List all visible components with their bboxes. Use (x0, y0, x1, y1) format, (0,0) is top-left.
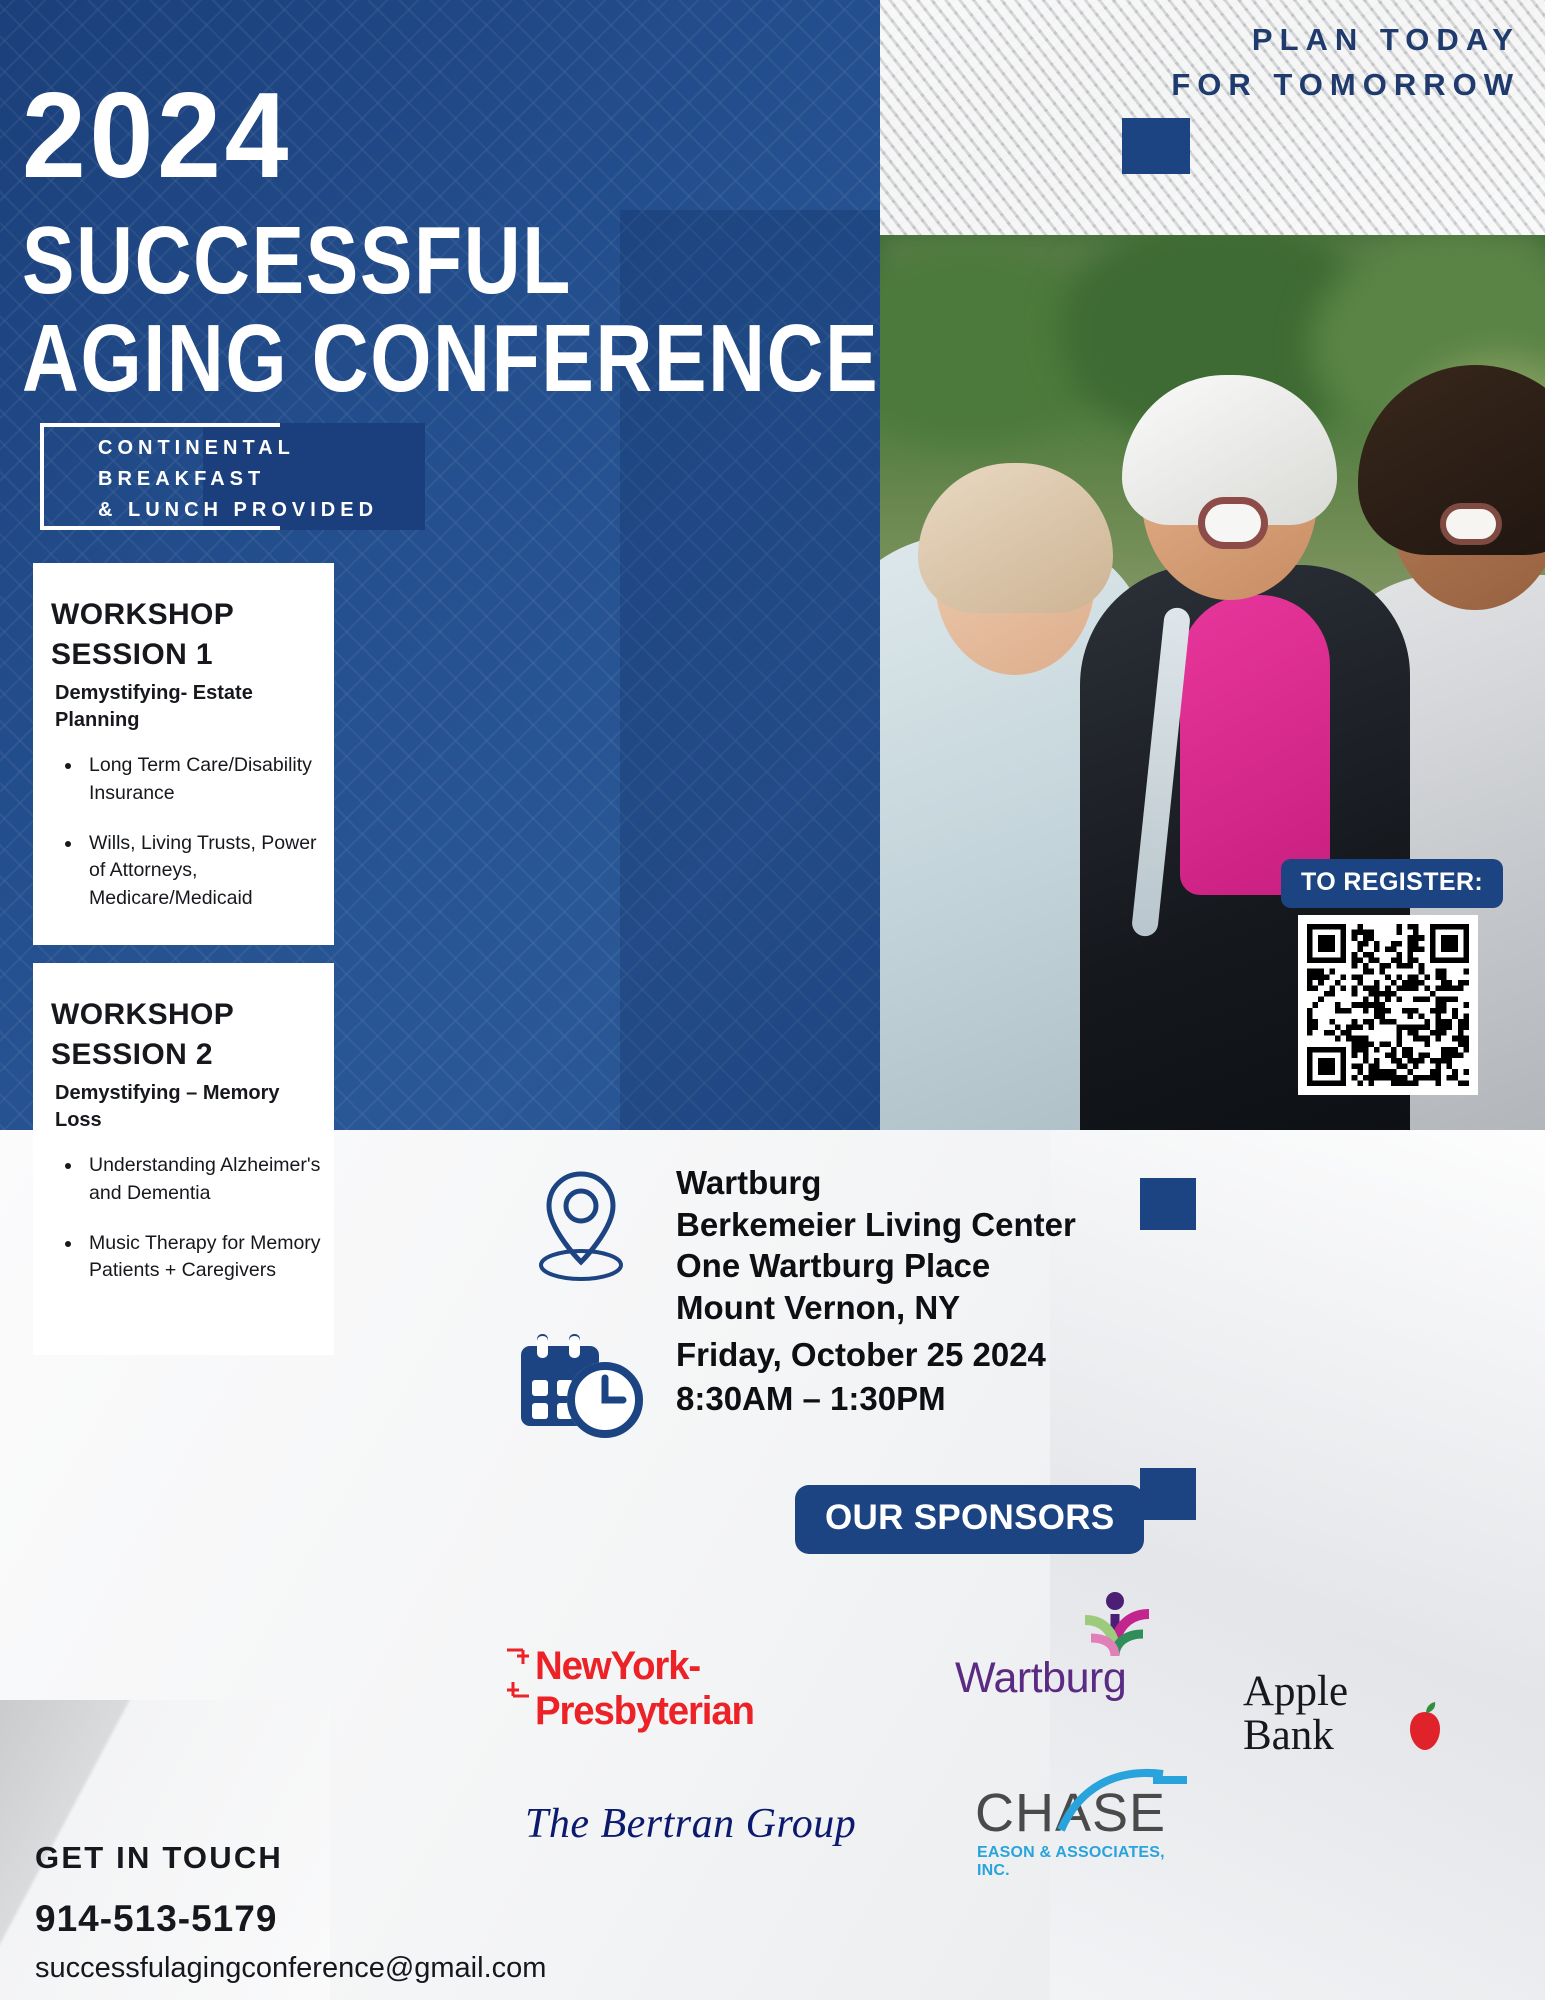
contact-heading: GET IN TOUCH (35, 1840, 283, 1876)
wartburg-figure-icon (1075, 1590, 1155, 1660)
sponsor-logo-wartburg: Wartburg (960, 1600, 1190, 1720)
sponsor-logo-bertran-group: The Bertran Group (525, 1800, 935, 1880)
tagline-line-1: PLAN TODAY (880, 18, 1520, 63)
venue-address: Wartburg Berkemeier Living Center One Wa… (676, 1162, 1076, 1328)
sponsor-subtitle-eason: EASON & ASSOCIATES, INC. (977, 1844, 1185, 1880)
accent-square-lower (1140, 1468, 1196, 1520)
sponsor-logo-apple-bank: Apple Bank (1243, 1672, 1463, 1782)
sponsor-name-bertran-group: The Bertran Group (525, 1800, 935, 1848)
meal-note-text: CONTINENTAL BREAKFAST & LUNCH PROVIDED (98, 433, 378, 526)
apple-bank-line-2: Bank (1243, 1714, 1348, 1758)
list-item: Wills, Living Trusts, Power of Attorneys… (83, 830, 324, 913)
event-date: Friday, October 25 2024 (676, 1333, 1046, 1377)
workshop-card-2: WORKSHOP SESSION 2 Demystifying – Memory… (33, 963, 334, 1355)
title-line-1: SUCCESSFUL (22, 215, 572, 306)
nyp-bracket-icon (505, 1646, 531, 1700)
location-pin-icon (533, 1168, 629, 1284)
workshop-1-heading: WORKSHOP SESSION 1 (33, 563, 334, 674)
contact-email[interactable]: successfulagingconference@gmail.com (35, 1952, 546, 1985)
workshop-1-bullet-list: Long Term Care/Disability Insurance Will… (33, 752, 334, 912)
workshop-1-subtitle: Demystifying- Estate Planning (33, 674, 334, 734)
sponsor-logo-chase-eason: CHASE EASON & ASSOCIATES, INC. (975, 1782, 1185, 1882)
event-datetime: Friday, October 25 2024 8:30AM – 1:30PM (676, 1333, 1046, 1420)
tagline: PLAN TODAY FOR TOMORROW (880, 18, 1520, 108)
workshop-2-heading: WORKSHOP SESSION 2 (33, 963, 334, 1074)
accent-square-top (1122, 118, 1190, 174)
photo-person-center-pink-top (1180, 595, 1330, 895)
workshop-1-heading-line-1: WORKSHOP (51, 595, 334, 635)
workshop-1-heading-line-2: SESSION 1 (51, 635, 334, 675)
calendar-clock-icon (517, 1330, 647, 1440)
photo-person-left-hair (918, 463, 1113, 613)
venue-name: Wartburg (676, 1162, 1076, 1204)
venue-street: One Wartburg Place (676, 1245, 1076, 1287)
workshop-2-bullet-list: Understanding Alzheimer's and Dementia M… (33, 1152, 334, 1285)
contact-phone[interactable]: 914-513-5179 (35, 1898, 277, 1940)
sponsor-logo-nyp: NewYork-Presbyterian (505, 1628, 905, 1720)
qr-code-image (1307, 924, 1469, 1086)
sponsor-name-nyp: NewYork-Presbyterian (535, 1644, 890, 1734)
chase-swoosh-icon (1053, 1766, 1188, 1832)
meal-note-line-2: BREAKFAST (98, 464, 378, 495)
meal-note-line-1: CONTINENTAL (98, 433, 378, 464)
apple-icon (1399, 1700, 1451, 1752)
list-item: Long Term Care/Disability Insurance (83, 752, 324, 807)
workshop-2-heading-line-1: WORKSHOP (51, 995, 334, 1035)
meal-note-line-3: & LUNCH PROVIDED (98, 495, 378, 526)
list-item: Understanding Alzheimer's and Dementia (83, 1152, 324, 1207)
event-time: 8:30AM – 1:30PM (676, 1377, 1046, 1421)
list-item: Music Therapy for Memory Patients + Care… (83, 1230, 324, 1285)
our-sponsors-badge: OUR SPONSORS (795, 1485, 1144, 1554)
flyer-page: PLAN TODAY FOR TOMORROW 2024 SUCCESSFUL … (0, 0, 1545, 2000)
apple-bank-line-1: Apple (1243, 1670, 1348, 1714)
title-line-2: AGING CONFERENCE (22, 313, 879, 404)
photo-person-right-mouth (1440, 503, 1502, 545)
sponsor-name-apple-bank: Apple Bank (1243, 1670, 1348, 1758)
venue-city-state: Mount Vernon, NY (676, 1287, 1076, 1329)
photo-person-center-mouth (1198, 497, 1268, 549)
qr-code[interactable] (1298, 915, 1478, 1095)
to-register-badge: TO REGISTER: (1281, 859, 1503, 908)
accent-square-middle (1140, 1178, 1196, 1230)
workshop-2-heading-line-2: SESSION 2 (51, 1035, 334, 1075)
tagline-line-2: FOR TOMORROW (880, 63, 1520, 108)
workshop-card-1: WORKSHOP SESSION 1 Demystifying- Estate … (33, 563, 334, 945)
sponsor-name-wartburg: Wartburg (955, 1654, 1126, 1703)
title-year: 2024 (22, 78, 292, 193)
venue-building: Berkemeier Living Center (676, 1204, 1076, 1246)
workshop-2-subtitle: Demystifying – Memory Loss (33, 1074, 334, 1134)
